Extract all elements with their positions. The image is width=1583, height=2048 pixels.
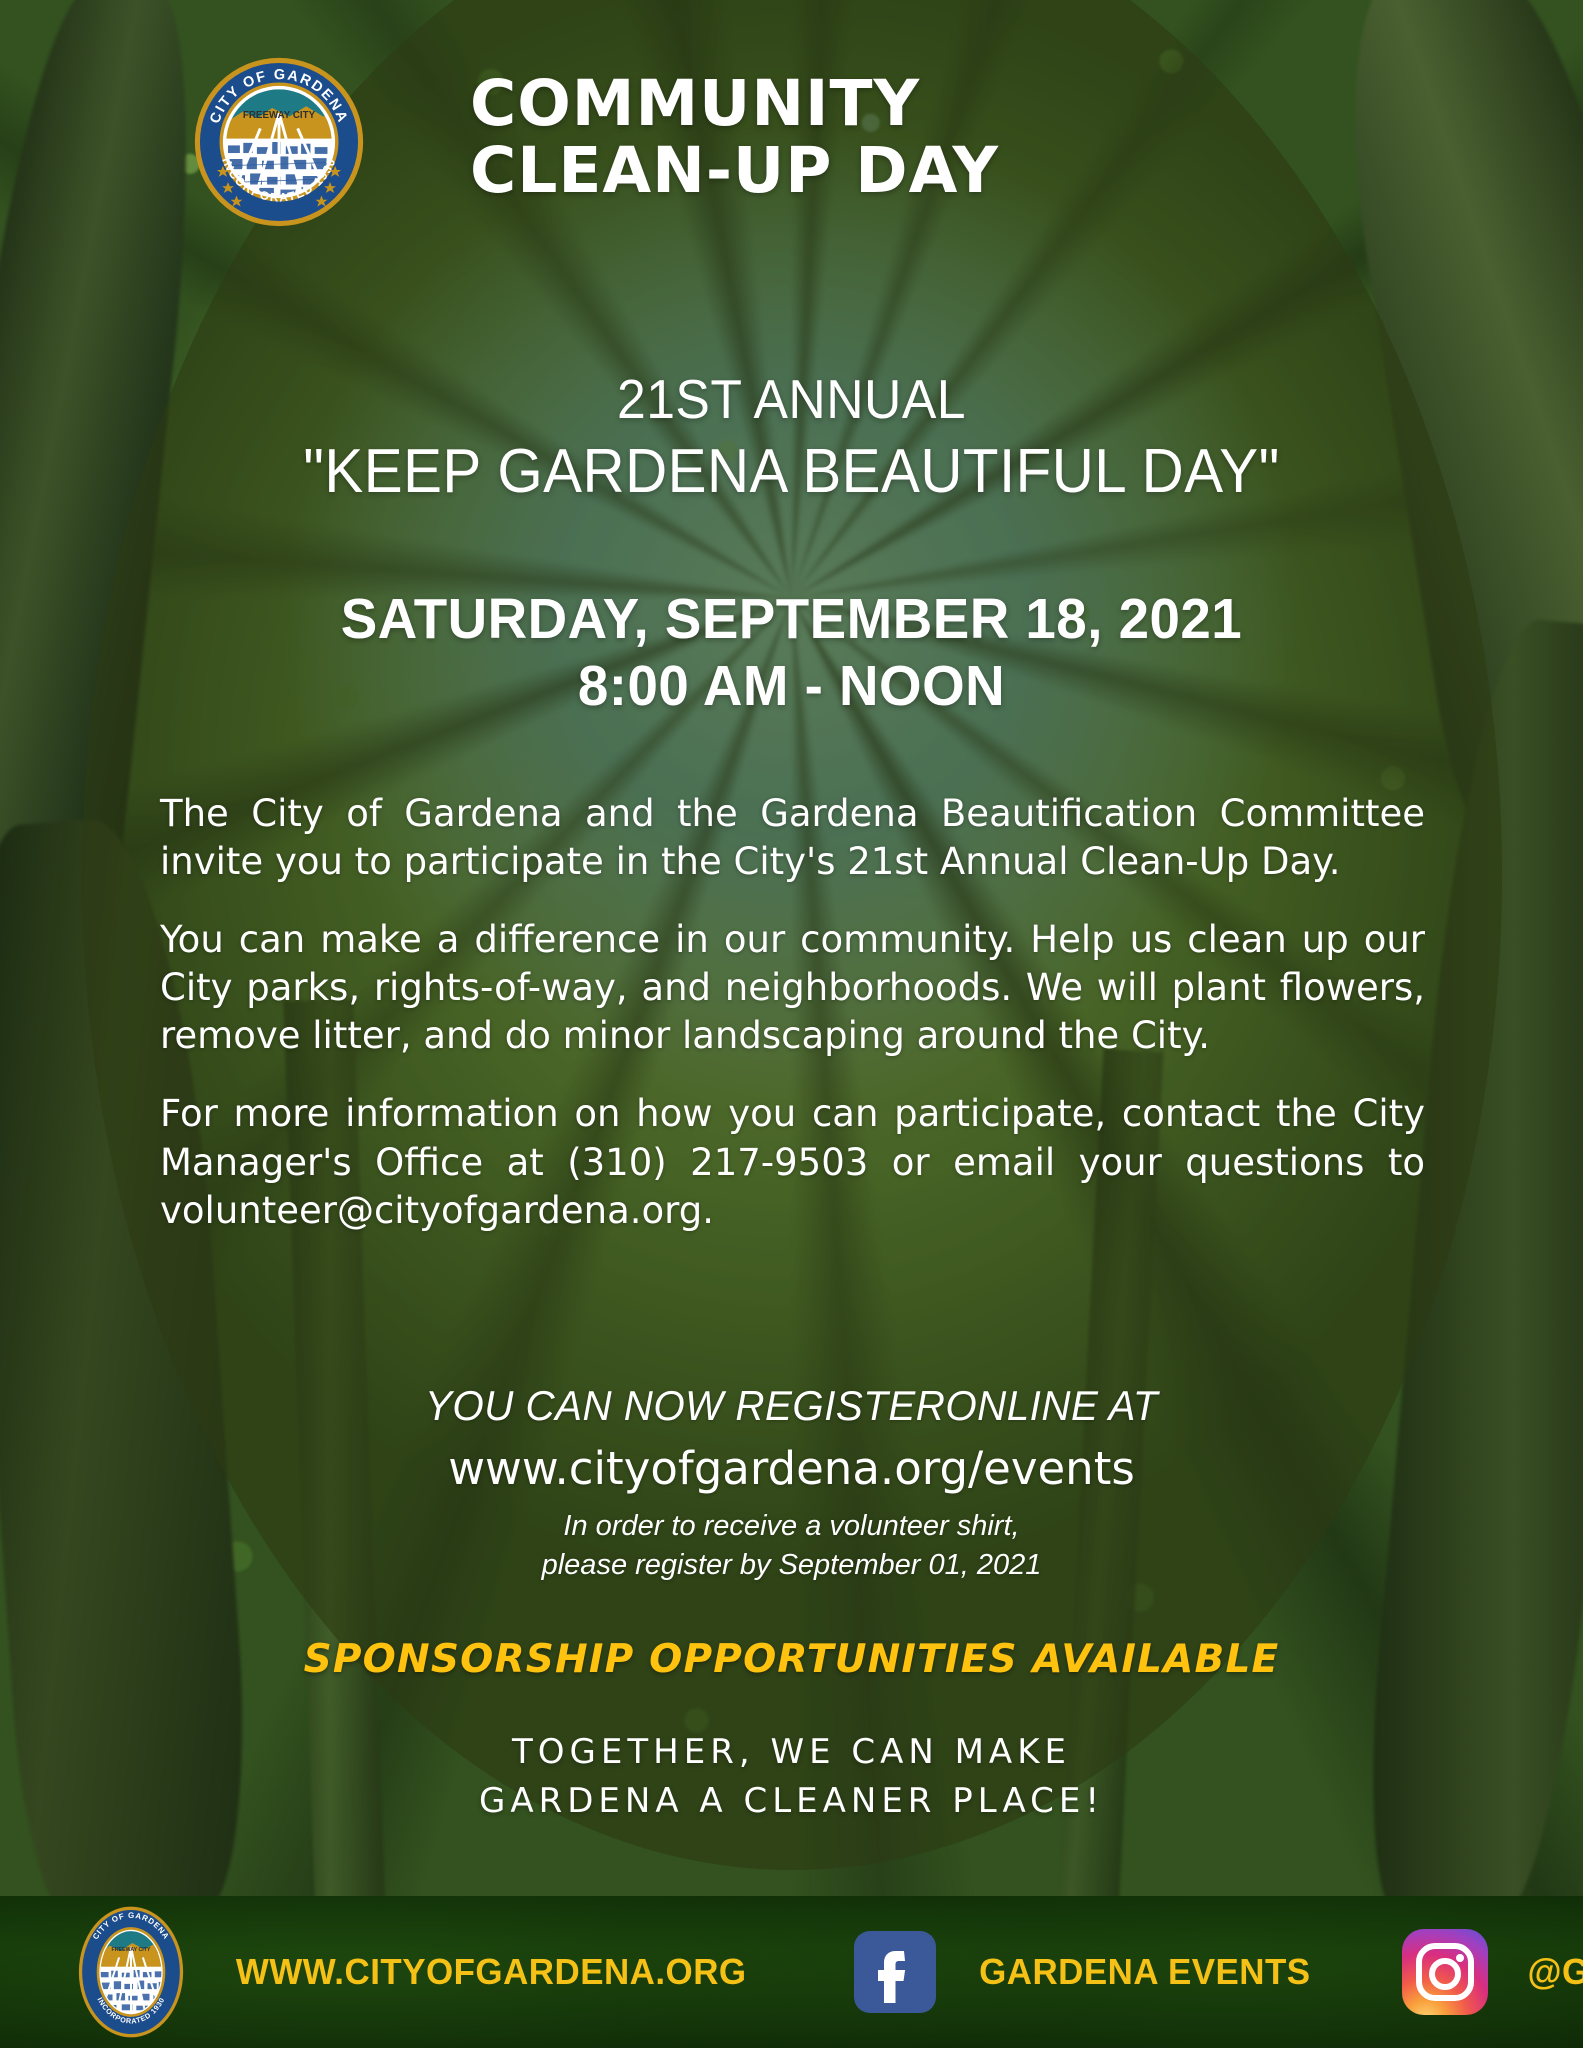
flyer-footer-bar: FREEWAY CITY CITY OF GARDENA INCORPORATE…: [0, 1896, 1583, 2048]
facebook-handle-label: GARDENA EVENTS: [980, 1951, 1311, 1993]
registration-url[interactable]: www.cityofgardena.org/events: [0, 1442, 1583, 1495]
register-headline: YOU CAN NOW REGISTERONLINE AT: [32, 1382, 1552, 1430]
register-note-line-1: In order to receive a volunteer shirt,: [0, 1507, 1583, 1546]
flyer-body-text: The City of Gardena and the Gardena Beau…: [160, 790, 1425, 1235]
tagline-line-2: GARDENA A CLEANER PLACE!: [0, 1777, 1583, 1826]
body-paragraph-3: For more information on how you can part…: [160, 1090, 1425, 1234]
footer-website-url[interactable]: WWW.CITYOFGARDENA.ORG: [236, 1951, 747, 1993]
annual-subtitle: 21ST ANNUAL "KEEP GARDENA BEAUTIFUL DAY": [47, 368, 1535, 508]
city-of-gardena-seal-footer-icon: FREEWAY CITY CITY OF GARDENA INCORPORATE…: [78, 1906, 184, 2038]
event-date-time: SATURDAY, SEPTEMBER 18, 2021 8:00 AM - N…: [32, 586, 1552, 721]
instagram-handle-label: @GARDENAEVENTS: [1528, 1951, 1583, 1993]
event-time: 8:00 AM - NOON: [32, 653, 1552, 720]
body-paragraph-1: The City of Gardena and the Gardena Beau…: [160, 790, 1425, 886]
facebook-icon[interactable]: [854, 1931, 936, 2013]
headline-line-1: COMMUNITY: [470, 67, 920, 140]
registration-block: YOU CAN NOW REGISTERONLINE AT www.cityof…: [0, 1382, 1583, 1585]
sponsorship-banner: SPONSORSHIP OPPORTUNITIES AVAILABLE: [0, 1637, 1583, 1682]
flyer-headline: COMMUNITY CLEAN-UP DAY: [470, 70, 1400, 205]
register-note-line-2: please register by September 01, 2021: [0, 1546, 1583, 1585]
body-paragraph-2: You can make a difference in our communi…: [160, 916, 1425, 1060]
instagram-glyph: [1402, 1929, 1488, 2015]
headline-line-2: CLEAN-UP DAY: [470, 137, 1400, 204]
tagline-line-1: TOGETHER, WE CAN MAKE: [0, 1728, 1583, 1777]
annual-line-2: "KEEP GARDENA BEAUTIFUL DAY": [47, 436, 1535, 508]
annual-line-1: 21ST ANNUAL: [617, 368, 966, 430]
event-date: SATURDAY, SEPTEMBER 18, 2021: [32, 586, 1552, 653]
facebook-glyph: [854, 1931, 936, 2013]
seal-inner-text: FREEWAY CITY: [243, 110, 316, 121]
seal-footer-inner-text: FREEWAY CITY: [112, 1947, 151, 1953]
city-of-gardena-seal-icon: FREEWAY CITY CITY OF GARDENA INCORPORATE…: [194, 57, 364, 227]
closing-tagline: TOGETHER, WE CAN MAKE GARDENA A CLEANER …: [0, 1728, 1583, 1827]
flyer-poster: FREEWAY CITY CITY OF GARDENA INCORPORATE…: [0, 0, 1583, 2048]
instagram-icon[interactable]: [1402, 1929, 1488, 2015]
flyer-content: FREEWAY CITY CITY OF GARDENA INCORPORATE…: [0, 0, 1583, 2048]
